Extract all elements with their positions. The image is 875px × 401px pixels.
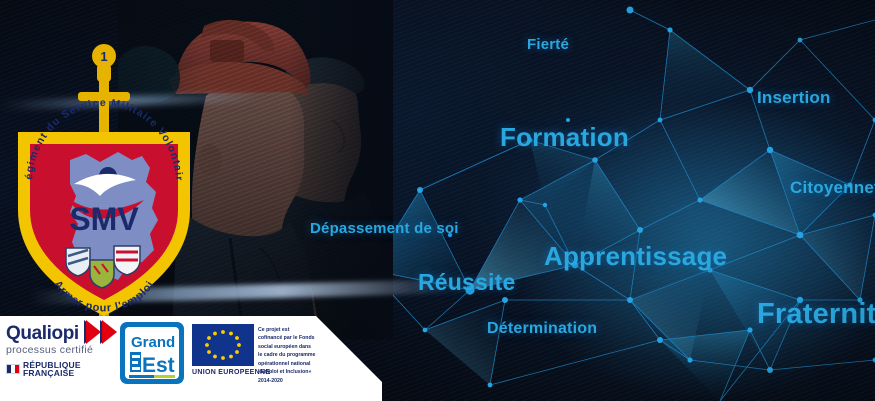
eu-funding-line-4: le cadre du programme xyxy=(258,351,320,359)
partner-logos: Qualiopi processus certifié RÉPUBLIQUE F… xyxy=(0,316,395,401)
smv-emblem: 1 SMV xyxy=(4,34,204,324)
keyword-reussite: Réussite xyxy=(418,269,515,296)
keyword-apprentissage: Apprentissage xyxy=(544,241,727,272)
keyword-fraternite: Fraternité xyxy=(757,298,875,331)
eu-funding-line-6: «Emploi et Inclusion» xyxy=(258,368,320,376)
eu-funding-line-2: cofinancé par le Fonds xyxy=(258,334,320,342)
eu-funding-line-1: Ce projet est xyxy=(258,326,320,334)
eu-funding-text: Ce projet est cofinancé par le Fonds soc… xyxy=(258,326,320,385)
eu-funding-line-7: 2014-2020 xyxy=(258,377,320,385)
grand-est-logo: Grand Est xyxy=(120,322,184,384)
republique-francaise-label: RÉPUBLIQUE FRANÇAISE xyxy=(6,361,126,378)
network-graphic xyxy=(330,0,875,401)
eu-funding-line-3: social européen dans xyxy=(258,343,320,351)
french-flag-icon xyxy=(6,364,20,374)
eu-funding-line-5: opérationnel national xyxy=(258,360,320,368)
keyword-formation: Formation xyxy=(500,122,629,153)
smv-banner-image: Fierté Insertion Formation Citoyenneté D… xyxy=(0,0,875,401)
republique-francaise-text: RÉPUBLIQUE FRANÇAISE xyxy=(23,361,126,378)
qualiopi-arrows-icon xyxy=(84,319,120,350)
grand-est-line2: Est xyxy=(142,354,175,377)
keyword-determination: Détermination xyxy=(487,320,597,338)
svg-text:1: 1 xyxy=(100,49,107,64)
grand-est-line1: Grand xyxy=(131,334,175,351)
eu-flag-icon xyxy=(192,324,254,366)
keyword-fierte: Fierté xyxy=(527,36,569,53)
keyword-citoyennete: Citoyenneté xyxy=(790,178,875,198)
keyword-insertion: Insertion xyxy=(757,88,831,108)
keyword-depassement-de-soi: Dépassement de soi xyxy=(310,220,459,237)
emblem-center-text: SMV xyxy=(69,201,139,237)
